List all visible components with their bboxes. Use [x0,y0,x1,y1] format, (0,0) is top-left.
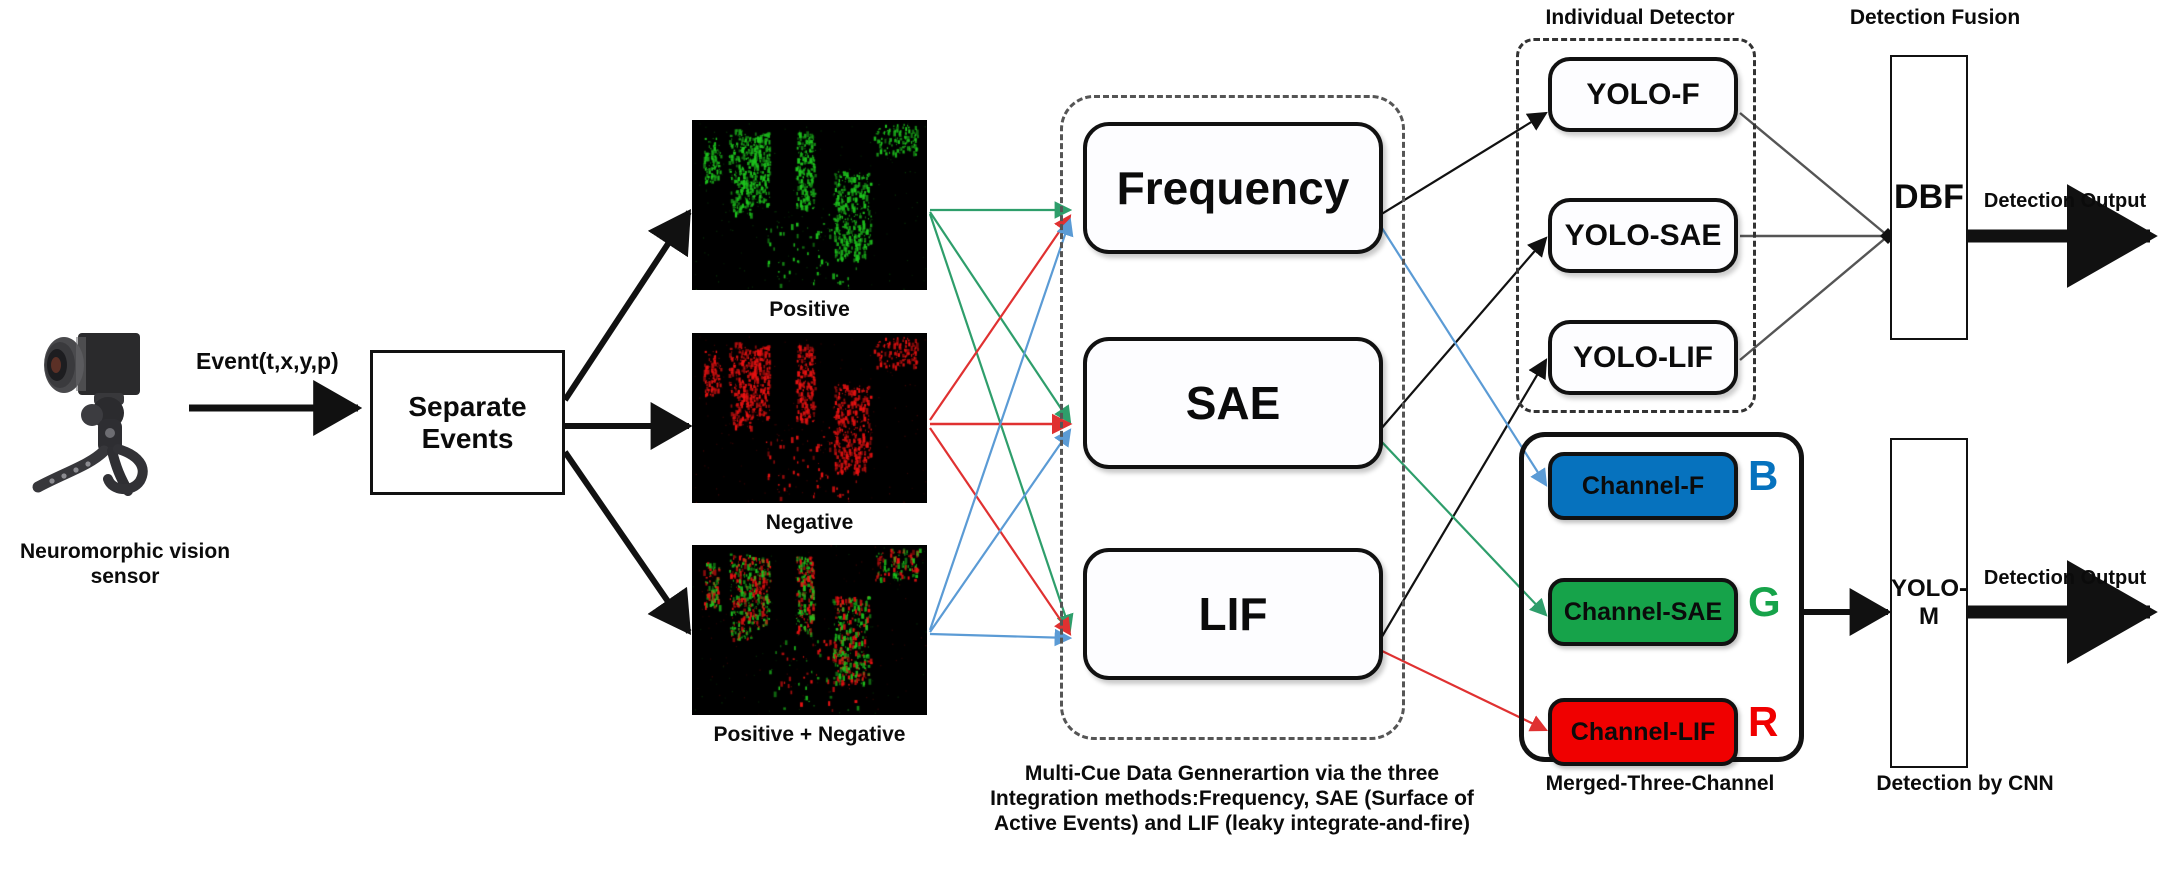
wire-combined-to-methods [930,220,1070,638]
sensor-caption-line1: Neuromorphic vision [20,540,230,563]
method-box-lif[interactable]: LIF [1083,548,1383,680]
yolo-m-box[interactable]: YOLO-M [1890,438,1968,768]
thumbnail-negative-caption: Negative [692,511,927,536]
detection-fusion-title: Detection Fusion [1805,6,2065,31]
merged-three-channel-title: Merged-Three-Channel [1500,772,1820,797]
thumbnail-positive-caption: Positive [692,298,927,323]
channel-letter-g: G [1748,581,1781,623]
wire-separate-to-thumbnails [565,212,689,632]
event-arrow-label: Event(t,x,y,p) [196,348,339,375]
thumbnail-positive[interactable] [692,120,927,290]
detection-by-cnn-title: Detection by CNN [1840,772,2090,797]
wire-negative-to-methods [930,216,1070,634]
dbf-box[interactable]: DBF [1890,55,1968,340]
thumbnail-positive-negative-caption: Positive + Negative [672,723,947,748]
event-camera-icon [20,315,190,500]
channel-box-sae[interactable]: Channel-SAE [1548,578,1738,646]
detector-box-yolo-sae[interactable]: YOLO-SAE [1548,198,1738,273]
channel-box-f[interactable]: Channel-F [1548,452,1738,520]
thumbnail-negative[interactable] [692,333,927,503]
thumbnail-positive-negative[interactable] [692,545,927,715]
channel-letter-b: B [1748,455,1778,497]
individual-detector-title: Individual Detector [1495,6,1785,31]
channel-letter-r: R [1748,701,1778,743]
detector-box-yolo-f[interactable]: YOLO-F [1548,57,1738,132]
channel-box-lif[interactable]: Channel-LIF [1548,698,1738,766]
diagram-canvas: Neuromorphic visionsensor Event(t,x,y,p)… [0,0,2177,875]
sensor-caption: Neuromorphic visionsensor [0,540,250,590]
multi-cue-caption: Multi-Cue Data Gennerartion via the thre… [932,762,1532,836]
wire-positive-to-methods [930,210,1070,630]
dbf-output-label: Detection Output [1970,190,2160,214]
separate-events-box[interactable]: Separate Events [370,350,565,495]
method-box-frequency[interactable]: Frequency [1083,122,1383,254]
wire-detectors-to-dbf [1740,113,1896,360]
yolom-output-label: Detection Output [1970,567,2160,591]
sensor-caption-line2: sensor [91,565,160,588]
method-box-sae[interactable]: SAE [1083,337,1383,469]
detector-box-yolo-lif[interactable]: YOLO-LIF [1548,320,1738,395]
